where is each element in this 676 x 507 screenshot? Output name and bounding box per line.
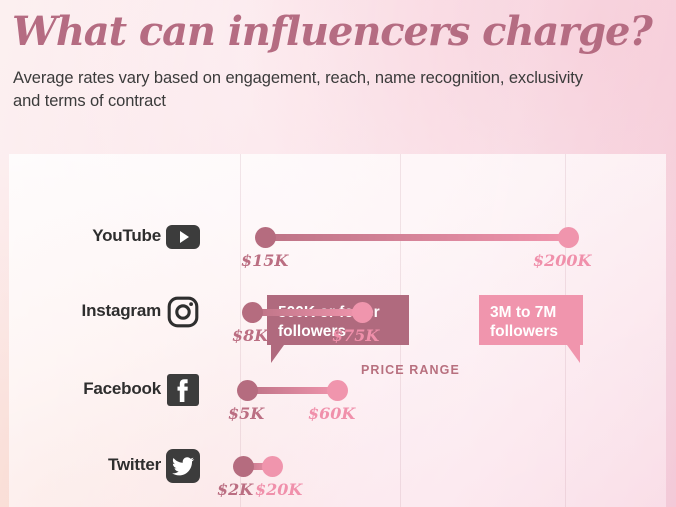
youtube-icon bbox=[166, 220, 200, 254]
callout-low-tail bbox=[271, 345, 284, 363]
range-dot-low-facebook bbox=[237, 380, 258, 401]
row-label-instagram: Instagram bbox=[82, 301, 161, 321]
value-high-facebook: $60K bbox=[308, 404, 355, 423]
value-high-instagram: $75K bbox=[332, 326, 379, 345]
facebook-icon-glyph bbox=[166, 373, 200, 407]
callout-high-line1: 3M to 7M bbox=[490, 303, 572, 322]
row-label-youtube: YouTube bbox=[92, 226, 161, 246]
instagram-icon-glyph bbox=[166, 295, 200, 329]
range-bar-facebook bbox=[247, 387, 338, 394]
value-low-twitter: $2K bbox=[217, 480, 253, 499]
value-low-youtube: $15K bbox=[241, 251, 288, 270]
row-label-twitter: Twitter bbox=[108, 455, 161, 475]
range-dot-high-youtube bbox=[558, 227, 579, 248]
page-title: What can influencers charge? bbox=[12, 9, 652, 55]
range-dot-low-instagram bbox=[242, 302, 263, 323]
callout-high-box: 3M to 7M followers bbox=[479, 295, 583, 345]
range-dot-high-facebook bbox=[327, 380, 348, 401]
facebook-icon bbox=[166, 373, 200, 407]
callout-high-tail bbox=[567, 345, 580, 363]
range-bar-instagram bbox=[252, 309, 363, 316]
value-low-instagram: $8K bbox=[232, 326, 268, 345]
twitter-icon bbox=[166, 449, 200, 483]
value-low-facebook: $5K bbox=[228, 404, 264, 423]
chart-panel: 500K or fewer followers 3M to 7M followe… bbox=[9, 154, 666, 507]
range-bar-youtube bbox=[265, 234, 569, 241]
row-label-facebook: Facebook bbox=[83, 379, 161, 399]
range-dot-high-twitter bbox=[262, 456, 283, 477]
callout-high-line2: followers bbox=[490, 322, 572, 341]
callout-high-followers: 3M to 7M followers bbox=[479, 295, 583, 345]
page-subtitle: Average rates vary based on engagement, … bbox=[13, 67, 613, 112]
twitter-icon-glyph bbox=[166, 449, 200, 483]
range-dot-low-youtube bbox=[255, 227, 276, 248]
range-dot-low-twitter bbox=[233, 456, 254, 477]
instagram-icon bbox=[166, 295, 200, 329]
value-high-twitter: $20K bbox=[255, 480, 302, 499]
youtube-icon-play-triangle bbox=[180, 231, 189, 243]
price-range-axis-label: PRICE RANGE bbox=[361, 363, 460, 377]
value-high-youtube: $200K bbox=[533, 251, 591, 270]
range-dot-high-instagram bbox=[352, 302, 373, 323]
